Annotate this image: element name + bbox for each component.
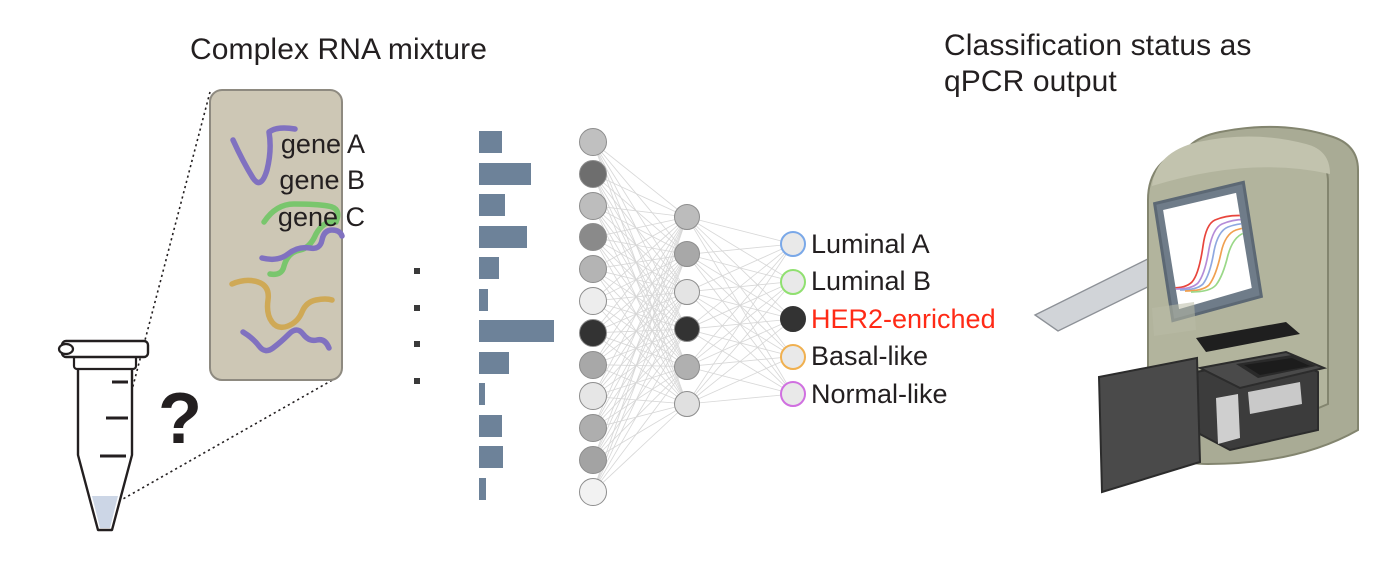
instrument-layer [0, 0, 1392, 579]
figure-canvas: Complex RNA mixture Classification statu… [0, 0, 1392, 579]
qpcr-machine [1099, 127, 1358, 492]
sample-drawer[interactable] [1099, 352, 1324, 492]
